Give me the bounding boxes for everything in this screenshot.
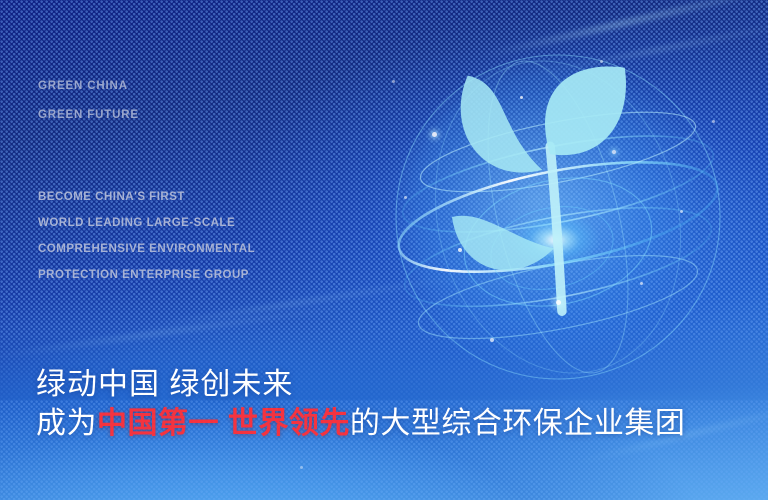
headline-line-2: 成为中国第一 世界领先的大型综合环保企业集团 xyxy=(36,404,685,444)
mission-line-2: WORLD LEADING LARGE-SCALE xyxy=(38,210,255,236)
mission-line-1: BECOME CHINA'S FIRST xyxy=(38,184,255,210)
tagline-line-2: GREEN FUTURE xyxy=(38,101,139,130)
headline-highlight-world-leading: 世界领先 xyxy=(228,407,350,440)
headline-gap xyxy=(219,407,228,440)
mission-line-4: PROTECTION ENTERPRISE GROUP xyxy=(38,262,255,288)
headline-suffix: 的大型综合环保企业集团 xyxy=(350,407,686,440)
mission-block: BECOME CHINA'S FIRST WORLD LEADING LARGE… xyxy=(38,184,255,288)
tagline-line-1: GREEN CHINA xyxy=(38,72,139,101)
headline-prefix: 成为 xyxy=(36,407,97,440)
headline-block: 绿动中国 绿创未来 成为中国第一 世界领先的大型综合环保企业集团 xyxy=(36,366,685,444)
headline-highlight-china-first: 中国第一 xyxy=(97,407,219,440)
mission-line-3: COMPREHENSIVE ENVIRONMENTAL xyxy=(38,236,255,262)
tagline-block: GREEN CHINA GREEN FUTURE xyxy=(38,72,139,130)
hero-banner: GREEN CHINA GREEN FUTURE BECOME CHINA'S … xyxy=(0,0,768,500)
headline-line-1: 绿动中国 绿创未来 xyxy=(36,366,685,404)
